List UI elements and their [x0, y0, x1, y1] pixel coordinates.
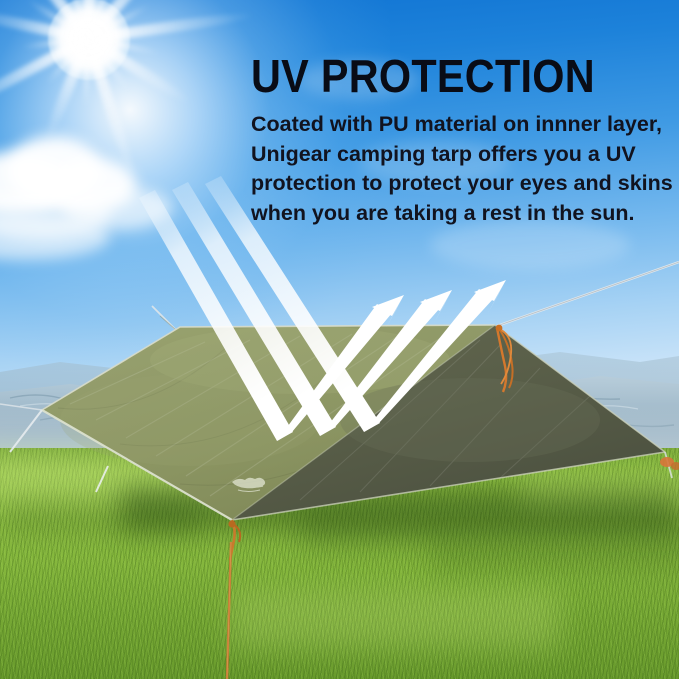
body-line-3: protection to protect your eyes and skin… [251, 169, 675, 199]
body-line-4: when you are taking a rest in the sun. [251, 199, 675, 229]
page-title: UV PROTECTION [251, 52, 629, 100]
product-marketing-image: UV PROTECTION Coated with PU material on… [0, 0, 679, 679]
body-line-1: Coated with PU material on innner layer, [251, 110, 675, 140]
body-line-2: Unigear camping tarp offers you a UV [251, 140, 675, 170]
body-copy: Coated with PU material on innner layer,… [251, 110, 675, 228]
